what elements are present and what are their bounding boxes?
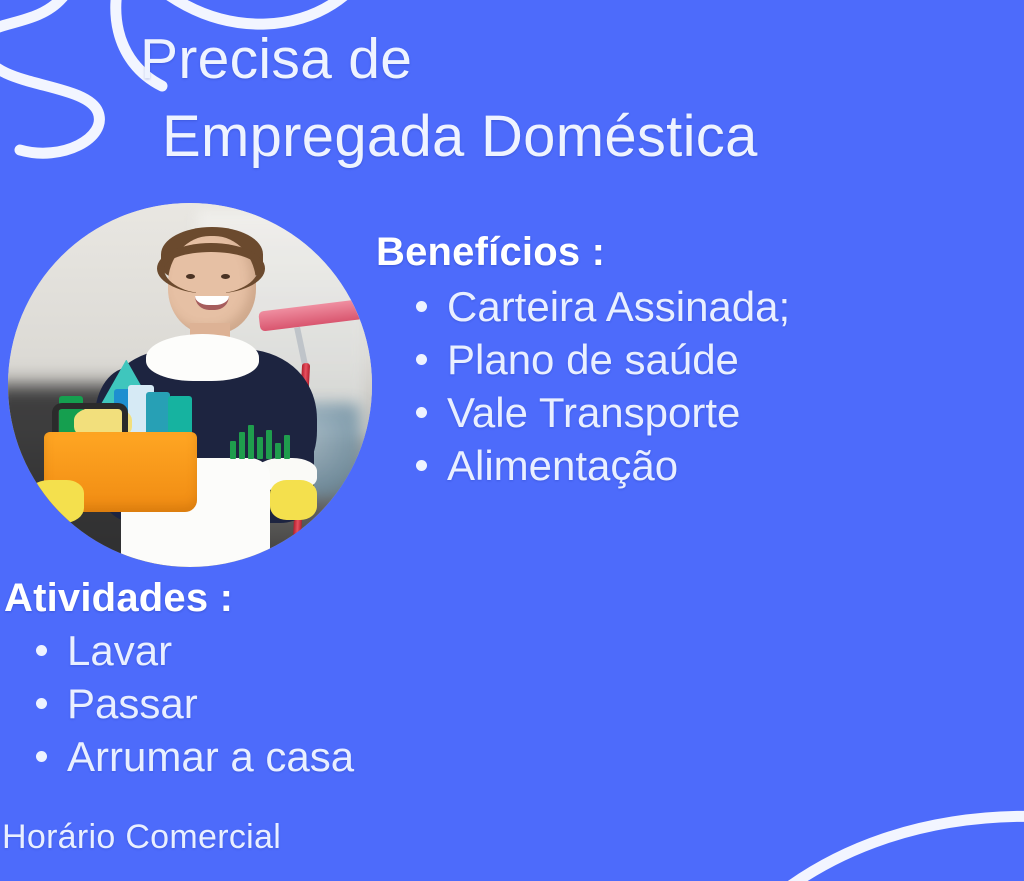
benefits-heading: Benefícios : — [376, 230, 996, 275]
list-item: Arrumar a casa — [36, 731, 644, 784]
activities-heading: Atividades : — [4, 576, 644, 621]
domestic-worker-photo — [8, 203, 372, 567]
activities-section: Atividades : Lavar Passar Arrumar a casa — [4, 576, 644, 784]
list-item: Alimentação — [416, 440, 996, 493]
page-title: Precisa de Empregada Doméstica — [140, 22, 1000, 175]
list-item-label: Carteira Assinada; — [447, 281, 790, 334]
glove-left — [26, 480, 84, 524]
list-item: Carteira Assinada; — [416, 281, 996, 334]
list-item-label: Arrumar a casa — [67, 731, 354, 784]
bullet-icon — [36, 645, 47, 656]
list-item-label: Passar — [67, 678, 198, 731]
list-item: Lavar — [36, 625, 644, 678]
green-bars-icon — [230, 425, 290, 459]
bullet-icon — [416, 301, 427, 312]
bullet-icon — [36, 698, 47, 709]
eye-right — [221, 274, 230, 279]
hair-outline — [157, 243, 264, 294]
list-item: Passar — [36, 678, 644, 731]
list-item: Vale Transporte — [416, 387, 996, 440]
list-item-label: Plano de saúde — [447, 334, 739, 387]
bullet-icon — [36, 751, 47, 762]
glove-right — [270, 480, 317, 520]
schedule-note: Horário Comercial — [2, 818, 281, 857]
bullet-icon — [416, 354, 427, 365]
activities-list: Lavar Passar Arrumar a casa — [4, 625, 644, 784]
uniform-collar — [146, 334, 259, 381]
list-item-label: Lavar — [67, 625, 172, 678]
headline-line-2: Empregada Doméstica — [140, 98, 1000, 175]
curve-line-icon — [754, 757, 1024, 881]
job-ad-poster: Precisa de Empregada Doméstica — [0, 0, 1024, 881]
benefits-section: Benefícios : Carteira Assinada; Plano de… — [376, 230, 996, 493]
list-item-label: Alimentação — [447, 440, 678, 493]
benefits-list: Carteira Assinada; Plano de saúde Vale T… — [376, 281, 996, 493]
bullet-icon — [416, 407, 427, 418]
list-item-label: Vale Transporte — [447, 387, 740, 440]
bullet-icon — [416, 460, 427, 471]
list-item: Plano de saúde — [416, 334, 996, 387]
headline-line-1: Precisa de — [140, 22, 1000, 98]
